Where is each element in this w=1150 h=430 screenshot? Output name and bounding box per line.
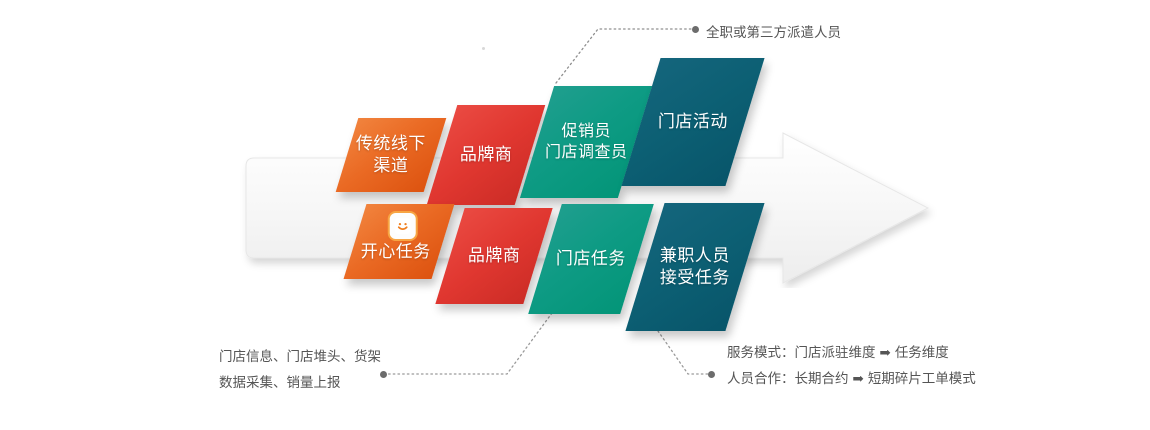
- block-label: 兼职人员 接受任务: [660, 245, 730, 290]
- block-label: 促销员 门店调查员: [545, 121, 628, 163]
- connector-dot-top: [692, 26, 699, 33]
- block-label: 开心任务: [361, 241, 431, 263]
- connector-dot-bottom-right: [708, 371, 715, 378]
- annotation-prefix: 人员合作：: [727, 371, 795, 386]
- annotation-service-mode: 服务模式：门店派驻维度➡任务维度: [727, 340, 949, 366]
- decorative-speck: [482, 47, 485, 50]
- arrow-right-icon: ➡: [849, 371, 868, 386]
- block-label: 品牌商: [460, 144, 513, 166]
- block-label: 门店活动: [658, 111, 728, 133]
- connector-dot-bottom-left: [380, 371, 387, 378]
- annotation-to: 短期碎片工单模式: [868, 371, 976, 386]
- annotation-from: 门店派驻维度: [795, 345, 876, 360]
- annotation-data-collection: 门店信息、门店堆头、货架 数据采集、销量上报: [219, 344, 381, 397]
- arrow-right-icon: ➡: [876, 345, 895, 360]
- block-label: 传统线下 渠道: [356, 133, 426, 178]
- annotation-prefix: 服务模式：: [727, 345, 795, 360]
- diagram-canvas: 传统线下 渠道 品牌商 促销员 门店调查员 门店活动 开心任务 品牌商 门店任务…: [0, 0, 1150, 430]
- block-label: 门店任务: [556, 248, 626, 270]
- annotation-from: 长期合约: [795, 371, 849, 386]
- annotation-staffing: 全职或第三方派遣人员: [706, 20, 841, 46]
- smiley-logo-icon: [390, 213, 416, 239]
- annotation-staff-cooperation: 人员合作：长期合约➡短期碎片工单模式: [727, 366, 976, 392]
- block-label: 品牌商: [468, 245, 521, 267]
- annotation-to: 任务维度: [895, 345, 949, 360]
